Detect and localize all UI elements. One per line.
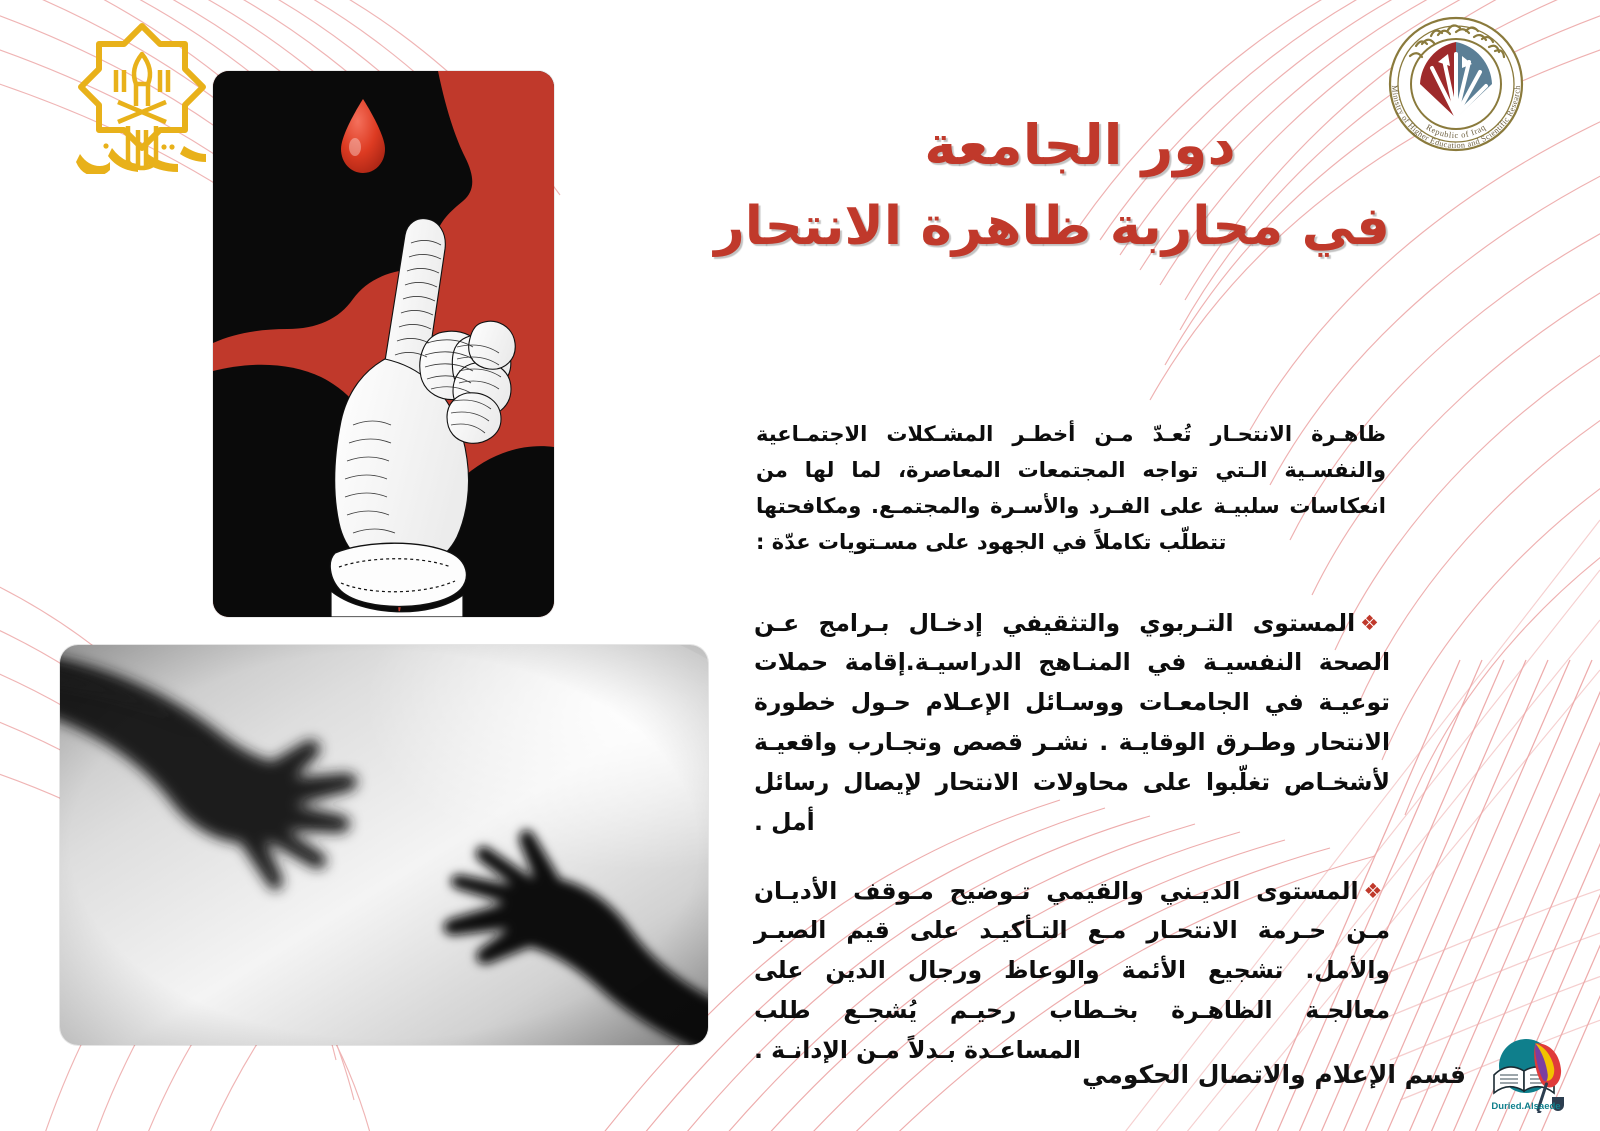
intro-paragraph: ظاهـرة الانتحـار تُعـدّ مـن أخطـر المشـك… <box>756 416 1386 560</box>
university-of-kerbala-logo <box>72 14 212 174</box>
poster-title: دور الجامعة في محاربة ظاهرة الانتحار <box>770 108 1390 263</box>
title-line-2: في محاربة ظاهرة الانتحار <box>770 190 1390 263</box>
footer-credit-text: Duried.Alsaede <box>1491 1101 1560 1112</box>
ministry-of-higher-education-seal: Republic of Iraq Ministry of Higher Educ… <box>1376 6 1536 158</box>
poster-canvas: Republic of Iraq Ministry of Higher Educ… <box>0 0 1600 1131</box>
reaching-hands-photo <box>60 645 708 1045</box>
title-line-1: دور الجامعة <box>770 108 1390 184</box>
bullet-diamond-icon: ❖ <box>1360 611 1390 635</box>
bullet-diamond-icon: ❖ <box>1364 879 1390 903</box>
duried-alsaede-logo: Duried.Alsaede <box>1480 1035 1572 1113</box>
content-column: دور الجامعة في محاربة ظاهرة الانتحار ظاه… <box>750 0 1390 1131</box>
bullet-item-educational: ❖المستوى التـربوي والتثقيفي إدخـال بـرام… <box>754 604 1390 844</box>
silhouette-shh-blood-tear-illustration <box>213 71 554 617</box>
footer: قسم الإعلام والاتصال الحكومي <box>1082 1035 1572 1113</box>
footer-department-label: قسم الإعلام والاتصال الحكومي <box>1082 1060 1466 1089</box>
bullet-item-educational-text: المستوى التـربوي والتثقيفي إدخـال بـرامج… <box>754 609 1390 837</box>
